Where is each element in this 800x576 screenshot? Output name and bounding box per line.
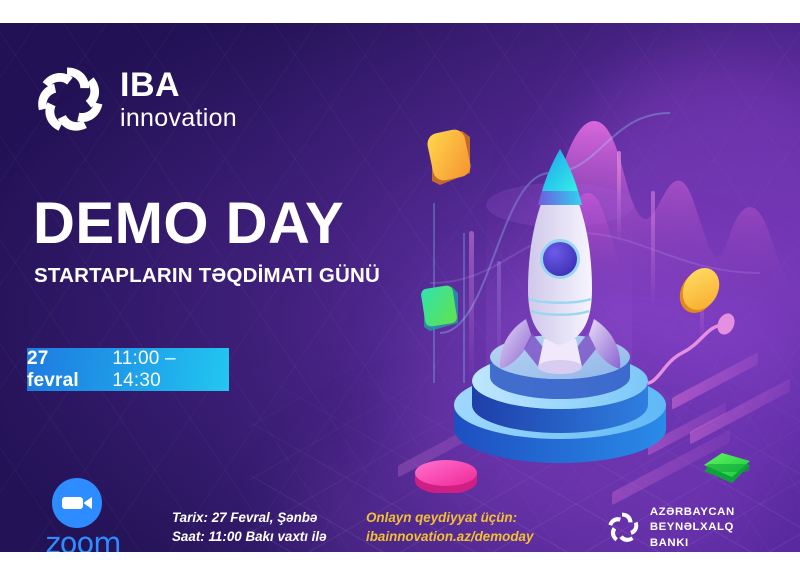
poster-frame: IBA innovation DEMO DAY STARTAPLARIN TƏQ…: [0, 0, 800, 576]
bank-name: AZƏRBAYCAN BEYNƏLXALQ BANKI: [650, 505, 766, 550]
registration-line-1: Onlayn qeydiyyat üçün:: [366, 509, 533, 528]
page-title: DEMO DAY: [33, 195, 344, 253]
brand-name-primary: IBA: [120, 68, 237, 102]
bank-name-line-2: BEYNƏLXALQ BANKI: [650, 520, 766, 550]
registration-info: Onlayn qeydiyyat üçün: ibainnovation.az/…: [366, 509, 533, 546]
event-date-line-1: Tarix: 27 Fevral, Şənbə: [172, 509, 327, 528]
registration-url[interactable]: ibainnovation.az/demoday: [366, 528, 533, 547]
zoom-circle: [52, 478, 102, 528]
bank-logo: AZƏRBAYCAN BEYNƏLXALQ BANKI: [606, 507, 766, 549]
brand-name-secondary: innovation: [120, 105, 237, 133]
iba-pinwheel-logo-icon: [33, 63, 107, 137]
video-camera-icon: [52, 478, 102, 528]
page-subtitle: STARTAPLARIN TƏQDİMATI GÜNÜ: [34, 264, 380, 288]
aze-bank-pinwheel-logo-icon: [606, 509, 641, 547]
event-date-info: Tarix: 27 Fevral, Şənbə Saat: 11:00 Bakı…: [172, 509, 327, 546]
bank-name-line-1: AZƏRBAYCAN: [650, 505, 766, 520]
brand-logo: IBA innovation: [33, 60, 243, 140]
badge-time: 11:00 – 14:30: [112, 348, 229, 392]
date-time-badge: 27 fevral 11:00 – 14:30: [27, 348, 229, 391]
rocket-on-launch-pad-icon: [432, 143, 692, 473]
green-rounded-square-right-icon: [700, 451, 754, 491]
poster-canvas: IBA innovation DEMO DAY STARTAPLARIN TƏQ…: [0, 23, 800, 552]
zoom-wordmark: zoom: [33, 526, 133, 552]
zoom-platform-logo: zoom: [33, 478, 133, 552]
event-date-line-2: Saat: 11:00 Bakı vaxtı ilə: [172, 528, 327, 547]
badge-date: 27 fevral: [27, 348, 105, 392]
